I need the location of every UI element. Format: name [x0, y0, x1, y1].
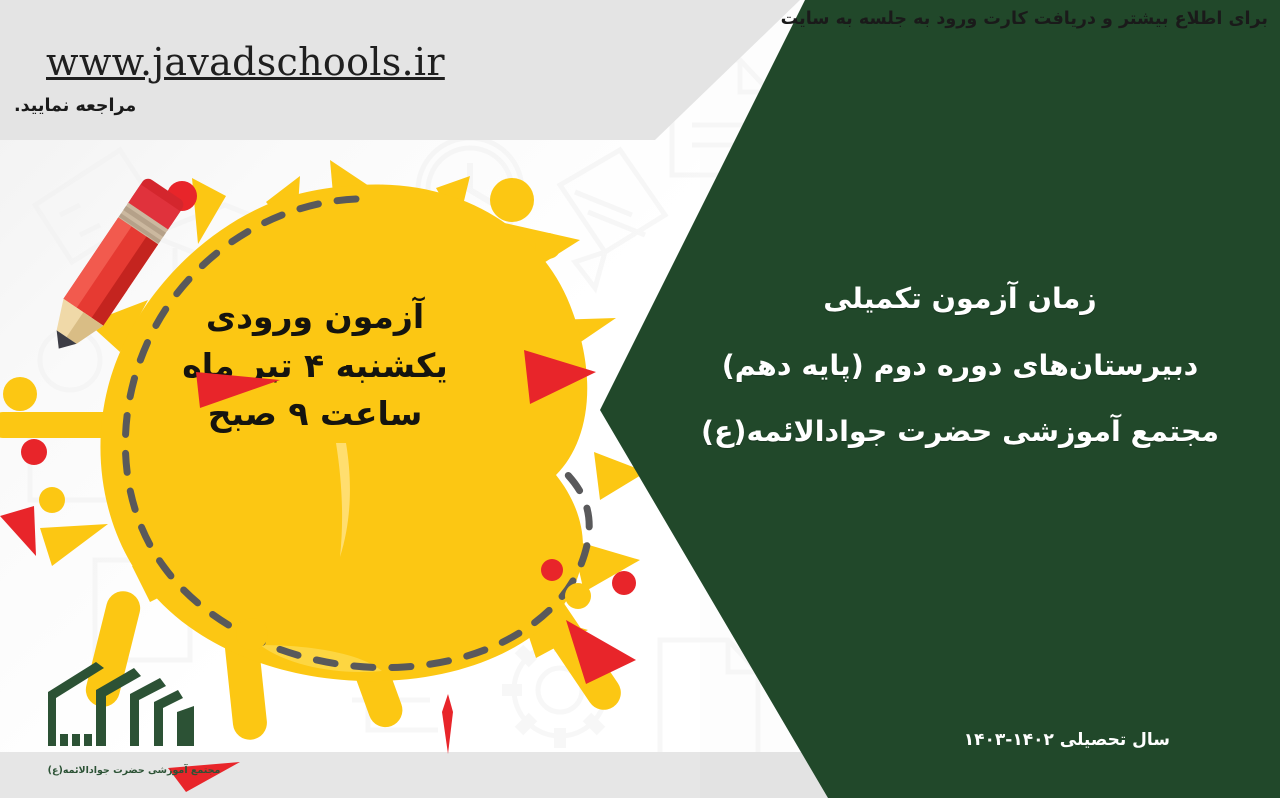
- green-line-heading: زمان آزمون تکمیلی: [640, 285, 1280, 314]
- pencil-svg: [28, 168, 208, 368]
- header-cta-line: مراجعه نمایید.: [14, 96, 136, 116]
- logo-caption: مجتمع آموزشی حضرت جوادالائمه(ع): [34, 765, 234, 776]
- school-logo: مجتمع آموزشی حضرت جوادالائمه(ع): [34, 650, 234, 780]
- academic-year-label: سال تحصیلی ۱۴۰۲-۱۴۰۳: [964, 730, 1170, 750]
- header-info-line: برای اطلاع بیشتر و دریافت کارت ورود به ج…: [781, 9, 1268, 29]
- green-line-organization: مجتمع آموزشی حضرت جوادالائمه(ع): [640, 418, 1280, 447]
- school-buildings-icon: [34, 650, 234, 760]
- poster-canvas: آزمون ورودی یکشنبه ۴ تیر ماه ساعت ۹ صبح: [0, 0, 1280, 798]
- website-link[interactable]: www.javadschools.ir: [46, 40, 445, 84]
- green-line-subject: دبیرستان‌های دوره دوم (پایه دهم): [640, 352, 1280, 381]
- green-text-block: زمان آزمون تکمیلی دبیرستان‌های دوره دوم …: [640, 285, 1280, 447]
- blob-line-time: ساعت ۹ صبح: [100, 397, 530, 432]
- red-pencil-icon: [28, 168, 208, 372]
